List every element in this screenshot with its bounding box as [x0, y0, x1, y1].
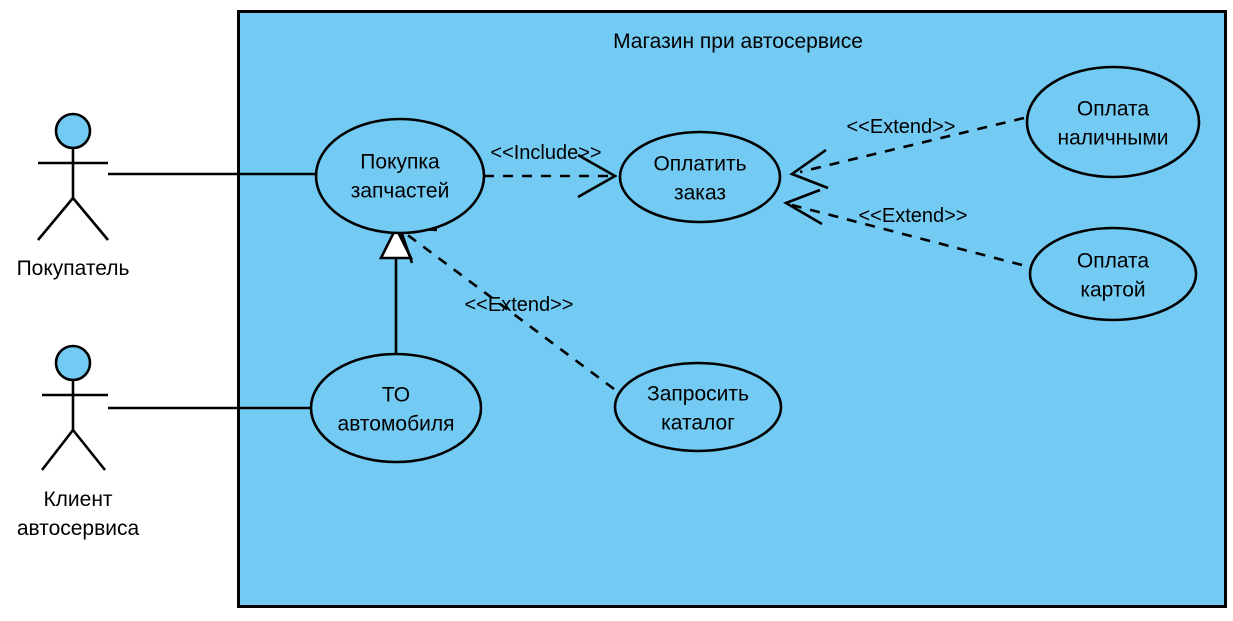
actor-leg-left-line [42, 430, 73, 470]
actor-head-icon [56, 346, 90, 380]
actor-leg-right-line [73, 430, 105, 470]
use-case-label-line1: Покупка [360, 151, 440, 174]
diagram-canvas: Магазин при автосервисе <<Include>> <<Ex… [0, 0, 1233, 621]
use-case-label-line2: запчастей [351, 180, 450, 203]
use-case-request-catalog[interactable]: Запросить каталог [615, 363, 781, 451]
use-case-label-line1: Запросить [647, 383, 749, 406]
use-case-label-line2: каталог [661, 412, 735, 435]
actor-label-line1: Клиент [43, 488, 112, 511]
use-case-ellipse [1030, 228, 1196, 320]
use-case-ellipse [311, 354, 481, 462]
use-case-pay-card[interactable]: Оплата картой [1030, 228, 1196, 320]
use-case-ellipse [316, 119, 484, 233]
include-label: <<Include>> [490, 142, 601, 164]
use-case-ellipse [620, 132, 780, 222]
actor-leg-right-line [73, 198, 108, 240]
use-case-label-line2: наличными [1057, 127, 1168, 150]
use-case-ellipse [1027, 67, 1199, 177]
system-title: Магазин при автосервисе [613, 30, 863, 53]
use-case-buy-parts[interactable]: Покупка запчастей [316, 119, 484, 233]
use-case-label-line2: автомобиля [338, 413, 455, 436]
actor-buyer[interactable]: Покупатель [17, 114, 130, 280]
extend-cash-label: <<Extend>> [847, 116, 956, 138]
use-case-label-line2: заказ [674, 182, 726, 205]
actor-label: Покупатель [17, 257, 130, 280]
use-case-label-line1: Оплата [1077, 250, 1150, 273]
use-case-label-line2: картой [1080, 279, 1145, 302]
use-case-pay-order[interactable]: Оплатить заказ [620, 132, 780, 222]
extend-catalog-label: <<Extend>> [465, 294, 574, 316]
actor-leg-left-line [38, 198, 73, 240]
use-case-label-line1: Оплатить [653, 153, 746, 176]
use-case-label-line1: Оплата [1077, 98, 1150, 121]
actor-service-client[interactable]: Клиент автосервиса [17, 346, 140, 540]
actor-label-line2: автосервиса [17, 517, 140, 540]
use-case-pay-cash[interactable]: Оплата наличными [1027, 67, 1199, 177]
use-case-car-maintenance[interactable]: ТО автомобиля [311, 354, 481, 462]
use-case-ellipse [615, 363, 781, 451]
use-case-label-line1: ТО [382, 384, 410, 407]
actor-head-icon [56, 114, 90, 148]
extend-card-label: <<Extend>> [859, 205, 968, 227]
